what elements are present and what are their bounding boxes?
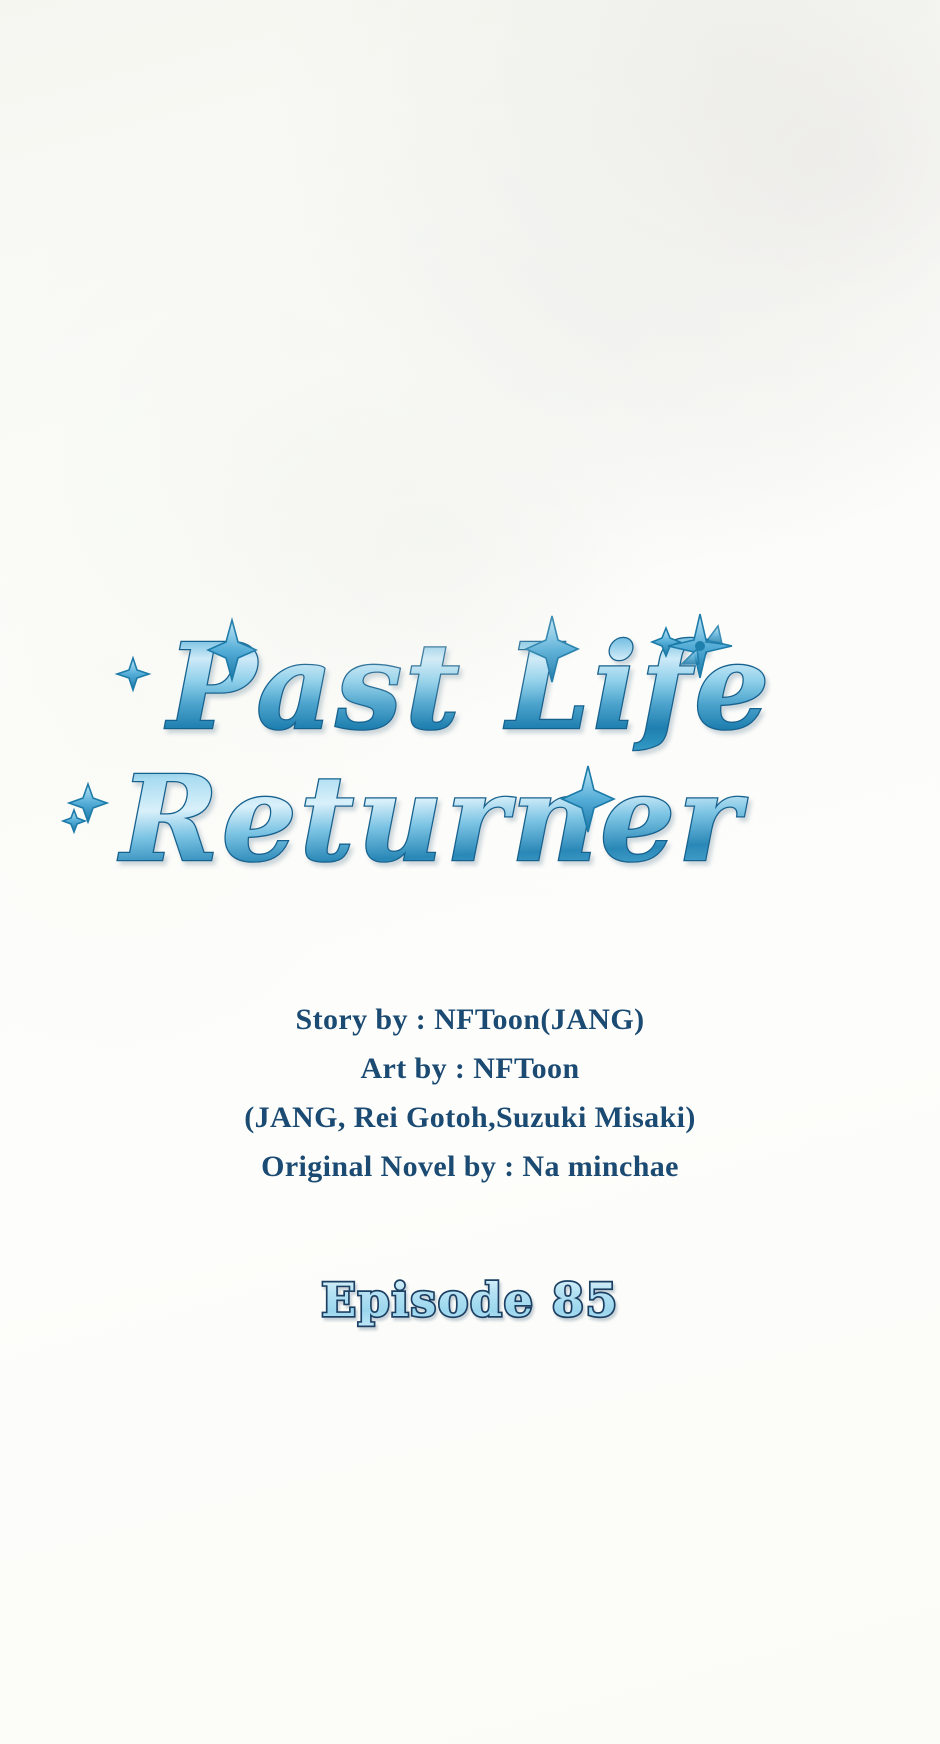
series-title-artwork: Past Life Returner bbox=[0, 598, 940, 918]
page-background: Past Life Returner bbox=[0, 0, 940, 1744]
credit-line-art: Art by : NFToon bbox=[0, 1044, 940, 1093]
credit-line-story: Story by : NFToon(JANG) bbox=[0, 995, 940, 1044]
title-line-1-text: Past Life bbox=[165, 617, 773, 756]
title-line-2: Returner bbox=[118, 749, 748, 888]
episode-label-block: Episode 85 bbox=[0, 1258, 940, 1338]
sparkle-icon bbox=[63, 810, 85, 832]
credit-line-original-novel: Original Novel by : Na minchae bbox=[0, 1142, 940, 1191]
episode-label-svg: Episode 85 bbox=[220, 1258, 720, 1338]
title-line-2-text: Returner bbox=[118, 749, 748, 888]
title-line-1: Past Life bbox=[165, 617, 773, 756]
credit-line-art-team: (JANG, Rei Gotoh,Suzuki Misaki) bbox=[0, 1093, 940, 1142]
title-logo-svg: Past Life Returner bbox=[0, 598, 940, 918]
sparkle-icon bbox=[117, 658, 149, 690]
episode-label-text: Episode 85 bbox=[321, 1273, 619, 1327]
credits-block: Story by : NFToon(JANG) Art by : NFToon … bbox=[0, 995, 940, 1191]
